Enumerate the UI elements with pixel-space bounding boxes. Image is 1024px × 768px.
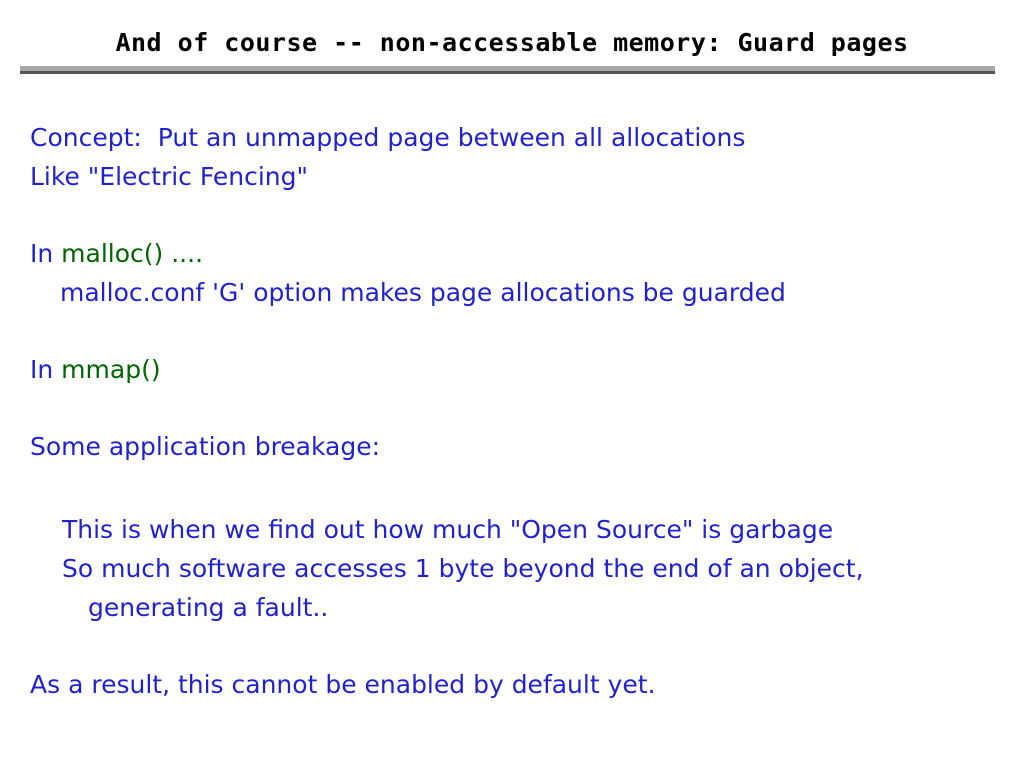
slide-body: Concept: Put an unmapped page between al… — [30, 118, 994, 704]
body-spacer-3 — [30, 389, 994, 427]
in-keyword-malloc: In — [30, 239, 61, 268]
body-spacer-1 — [30, 196, 994, 234]
body-line-breakage-heading: Some application breakage: — [30, 427, 994, 466]
body-line-one-byte-overrun: So much software accesses 1 byte beyond … — [30, 549, 994, 588]
body-line-conclusion: As a result, this cannot be enabled by d… — [30, 665, 994, 704]
body-line-malloc-conf: malloc.conf 'G' option makes page alloca… — [30, 273, 994, 312]
malloc-call-token: malloc() .... — [61, 239, 203, 268]
body-line-generating-fault: generating a fault.. — [30, 588, 994, 627]
body-line-in-mmap: In mmap() — [30, 350, 994, 389]
title-divider-rule — [20, 66, 995, 74]
mmap-call-token: mmap() — [61, 355, 160, 384]
body-spacer-2 — [30, 312, 994, 350]
body-spacer-4 — [30, 466, 994, 510]
body-line-in-malloc: In malloc() .... — [30, 234, 994, 273]
body-line-concept: Concept: Put an unmapped page between al… — [30, 118, 994, 157]
page-title: And of course -- non-accessable memory: … — [0, 28, 1024, 57]
slide-canvas: And of course -- non-accessable memory: … — [0, 0, 1024, 768]
body-spacer-5 — [30, 627, 994, 665]
body-line-electric-fencing: Like "Electric Fencing" — [30, 157, 994, 196]
body-line-open-source-garbage: This is when we find out how much "Open … — [30, 510, 994, 549]
in-keyword-mmap: In — [30, 355, 61, 384]
